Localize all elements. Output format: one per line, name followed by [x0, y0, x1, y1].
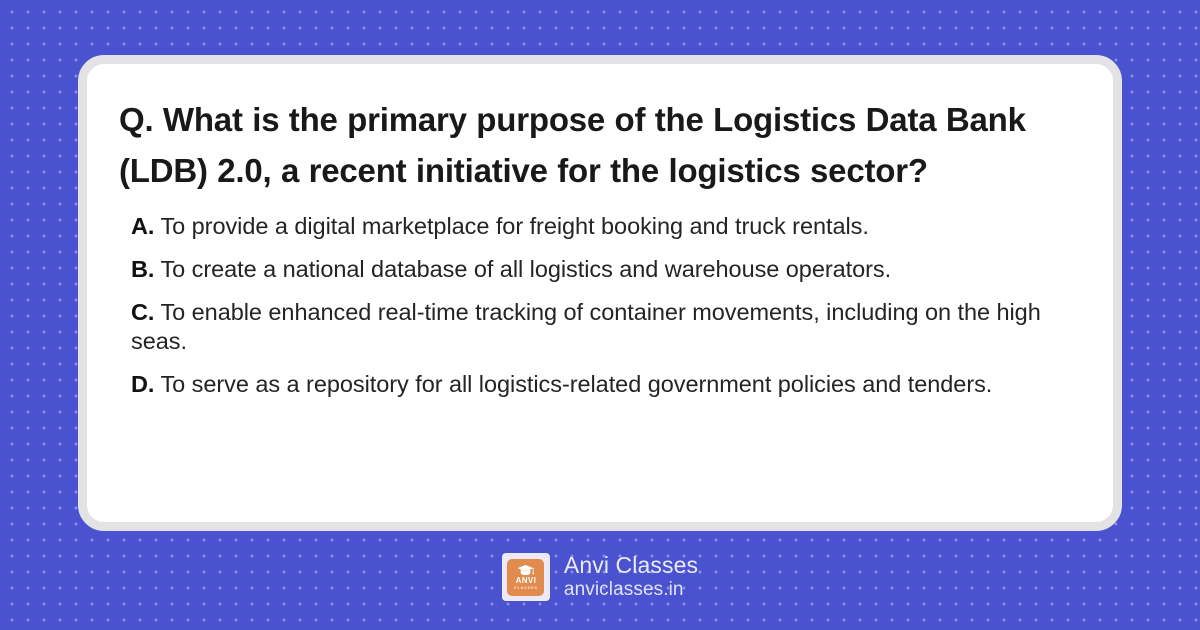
option-b-letter: B. [131, 256, 154, 282]
logo-name: ANVI [516, 577, 537, 585]
option-d[interactable]: D. To serve as a repository for all logi… [131, 370, 1079, 399]
logo-tile: ANVI CLASSES [507, 559, 544, 596]
option-a[interactable]: A. To provide a digital marketplace for … [131, 212, 1079, 241]
option-a-letter: A. [131, 213, 154, 239]
option-a-text: To provide a digital marketplace for fre… [160, 213, 868, 239]
option-c-text: To enable enhanced real-time tracking of… [131, 299, 1041, 354]
option-c[interactable]: C. To enable enhanced real-time tracking… [131, 298, 1079, 356]
option-d-text: To serve as a repository for all logisti… [160, 371, 992, 397]
quiz-card: Q. What is the primary purpose of the Lo… [78, 55, 1122, 531]
option-d-letter: D. [131, 371, 154, 397]
brand-text-block: Anvi Classes anviclasses.in [564, 553, 698, 600]
brand-url[interactable]: anviclasses.in [564, 580, 698, 601]
brand-logo: ANVI CLASSES [502, 553, 550, 601]
option-c-letter: C. [131, 299, 154, 325]
option-b-text: To create a national database of all log… [160, 256, 891, 282]
question-text: Q. What is the primary purpose of the Lo… [117, 94, 1083, 196]
footer-branding: ANVI CLASSES Anvi Classes anviclasses.in [0, 548, 1200, 606]
graduation-cap-icon [517, 565, 534, 576]
logo-subtitle: CLASSES [514, 587, 538, 591]
options-list: A. To provide a digital marketplace for … [117, 212, 1083, 398]
option-b[interactable]: B. To create a national database of all … [131, 255, 1079, 284]
brand-name: Anvi Classes [564, 553, 698, 578]
